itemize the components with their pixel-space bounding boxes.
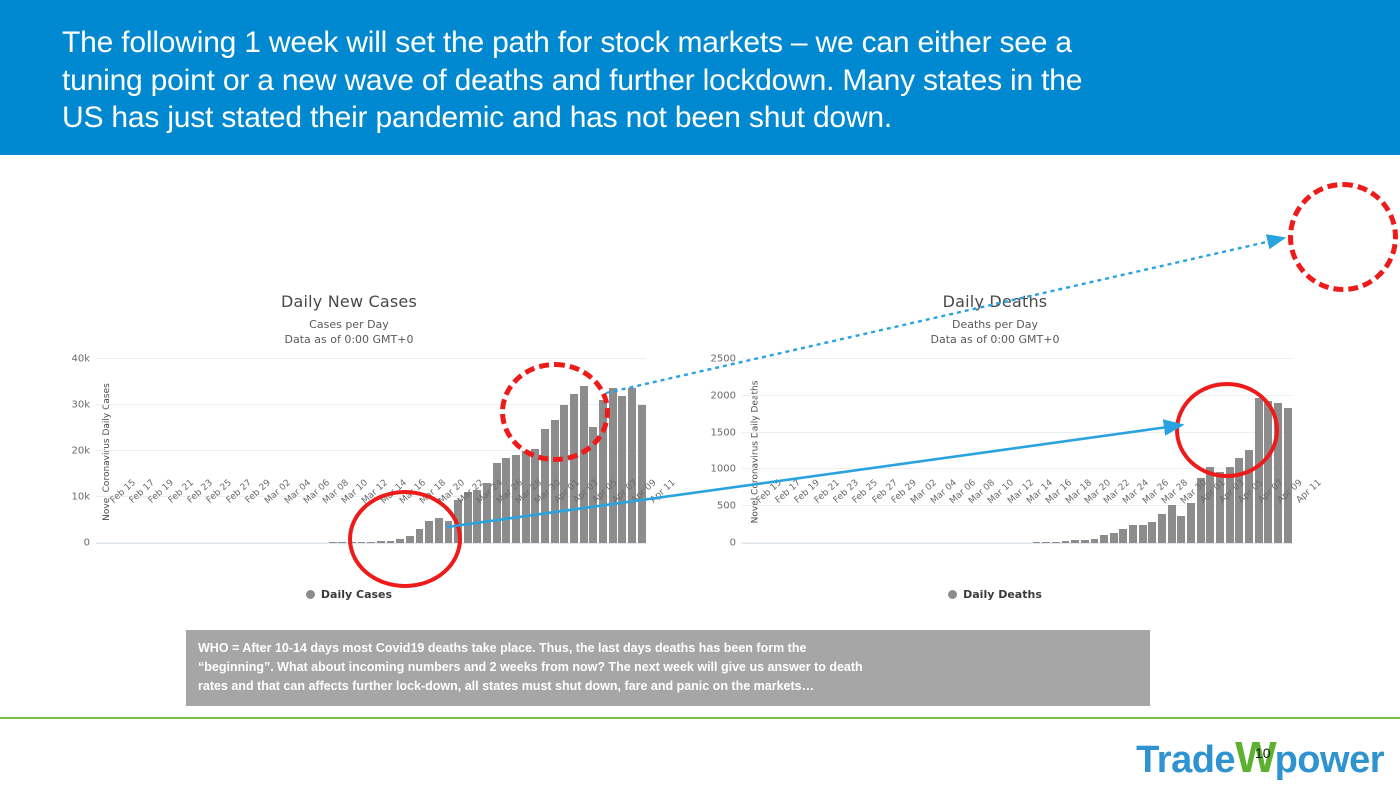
bar [1139, 525, 1147, 543]
annotation-circle-callout-empty [1288, 182, 1398, 292]
y-axis-tick-label: 1000 [711, 464, 736, 475]
callout-box: WHO = After 10-14 days most Covid19 deat… [186, 630, 1150, 706]
logo-text-power: power [1275, 739, 1384, 781]
bar [406, 536, 414, 543]
chart-title-cases: Daily New Cases [44, 292, 654, 311]
y-axis-tick-label: 0 [84, 538, 90, 549]
bar [1100, 535, 1108, 543]
y-axis-tick-label: 0 [730, 538, 736, 549]
y-axis-tick-label: 20k [71, 446, 90, 457]
y-axis-tick-label: 30k [71, 400, 90, 411]
bar [1052, 542, 1060, 543]
legend-label-cases: Daily Cases [321, 588, 392, 601]
y-axis-tick-label: 10k [71, 492, 90, 503]
bar [1033, 542, 1041, 543]
bar [1062, 541, 1070, 543]
x-axis-ticks-deaths: Feb 15Feb 17Feb 19Feb 21Feb 23Feb 25Feb … [742, 478, 1292, 526]
chart-daily-deaths: Daily Deaths Deaths per Day Data as of 0… [690, 292, 1300, 622]
chart-title-deaths: Daily Deaths [690, 292, 1300, 311]
legend-label-deaths: Daily Deaths [963, 588, 1042, 601]
legend-deaths: Daily Deaths [690, 588, 1300, 601]
y-axis-tick-label: 40k [71, 354, 90, 365]
callout-text: WHO = After 10-14 days most Covid19 deat… [198, 639, 1138, 696]
legend-marker-icon [948, 590, 957, 599]
page-title: The following 1 week will set the path f… [62, 24, 1312, 137]
bar [377, 541, 385, 543]
bar [1071, 540, 1079, 543]
bar [1042, 542, 1050, 543]
legend-cases: Daily Cases [44, 588, 654, 601]
logo-text-trade: Trade [1136, 739, 1235, 781]
chart-daily-new-cases: Daily New Cases Cases per Day Data as of… [44, 292, 654, 622]
header-banner: The following 1 week will set the path f… [0, 0, 1400, 155]
bar [1110, 533, 1118, 543]
y-axis-tick-label: 2000 [711, 390, 736, 401]
x-axis-ticks-cases: Feb 15Feb 17Feb 19Feb 21Feb 23Feb 25Feb … [96, 478, 646, 526]
bar [1081, 540, 1089, 543]
legend-marker-icon [306, 590, 315, 599]
y-axis-tick-label: 500 [717, 501, 736, 512]
chart-subtitle-deaths: Deaths per Day Data as of 0:00 GMT+0 [690, 318, 1300, 347]
bar [1091, 539, 1099, 543]
bar [367, 542, 375, 543]
bar [358, 542, 366, 543]
bar [1119, 529, 1127, 543]
footer-divider [0, 717, 1400, 719]
bar [329, 542, 337, 543]
chart-subtitle-cases: Cases per Day Data as of 0:00 GMT+0 [44, 318, 654, 347]
y-axis-tick-label: 1500 [711, 427, 736, 438]
bar [396, 539, 404, 543]
page-number: 10 [1255, 745, 1271, 761]
bar [1129, 525, 1137, 543]
bar [348, 542, 356, 543]
bar [416, 529, 424, 543]
y-axis-tick-label: 2500 [711, 354, 736, 365]
slide-root: The following 1 week will set the path f… [0, 0, 1400, 788]
bar [338, 542, 346, 543]
bar [387, 541, 395, 543]
